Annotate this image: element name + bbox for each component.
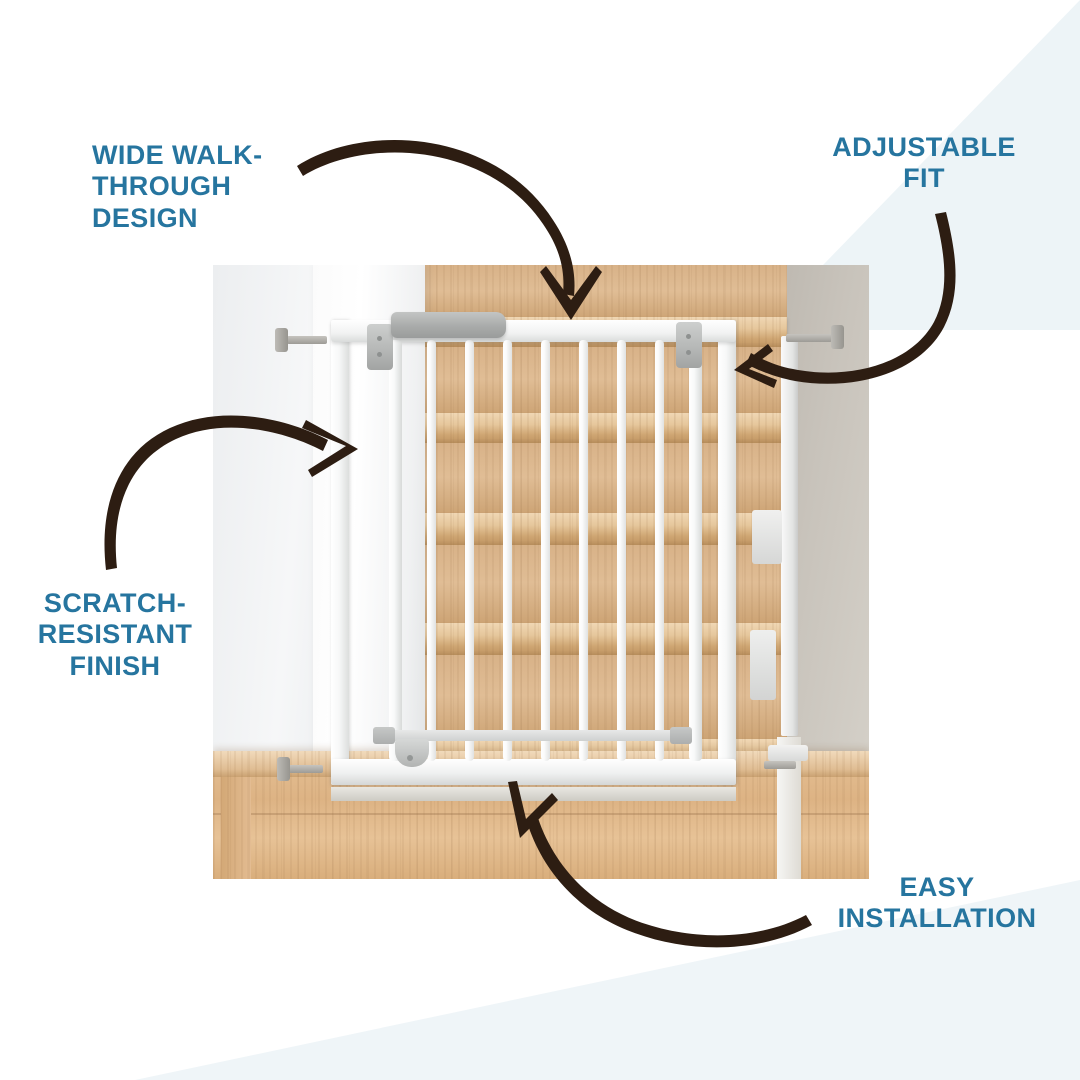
infographic-canvas: WIDE WALK- THROUGH DESIGN ADJUSTABLE FIT… <box>0 0 1080 1080</box>
wall-mount-cup-left <box>275 328 288 352</box>
callout-label-wide-walk-through-design: WIDE WALK- THROUGH DESIGN <box>92 140 332 234</box>
gate-bottom-rail <box>331 759 736 785</box>
gate-mid-rail-cap-left <box>373 727 395 744</box>
gate-bar <box>655 340 664 761</box>
gate-bar <box>389 340 402 761</box>
gate-mid-rail-cap-right <box>670 727 692 744</box>
gate-handle <box>391 312 506 338</box>
gate-extension-stub-lower <box>750 630 776 700</box>
gate-bar <box>465 340 474 761</box>
floor-mount-bolt-left <box>289 765 323 773</box>
gate-bar <box>579 340 588 761</box>
gate-hinge-left <box>367 324 393 370</box>
floor-mount-bolt-right <box>764 761 796 769</box>
gate-right-frame <box>718 320 736 785</box>
gate-bar <box>503 340 512 761</box>
gate-extension-panel <box>781 336 798 736</box>
gate-floor-strip <box>331 787 736 801</box>
callout-label-adjustable-fit: ADJUSTABLE FIT <box>800 132 1048 195</box>
callout-label-easy-installation: EASY INSTALLATION <box>806 872 1068 935</box>
safety-gate <box>331 320 736 785</box>
floor-mount-cup-left <box>277 757 290 781</box>
gate-bar <box>617 340 626 761</box>
wall-mount-bolt-left <box>287 336 327 344</box>
gate-bar <box>541 340 550 761</box>
gate-extension-stub-upper <box>752 510 782 564</box>
gate-hinge-right <box>676 322 702 368</box>
wall-mount-bolt-right <box>786 334 832 342</box>
product-photo <box>213 265 869 879</box>
gate-left-frame <box>331 320 349 785</box>
gate-bar <box>689 340 702 761</box>
wall-mount-cup-right <box>831 325 844 349</box>
callout-label-scratch-resistant-finish: SCRATCH- RESISTANT FINISH <box>10 588 220 682</box>
gate-bar <box>427 340 436 761</box>
gate-extension-foot <box>768 745 808 761</box>
